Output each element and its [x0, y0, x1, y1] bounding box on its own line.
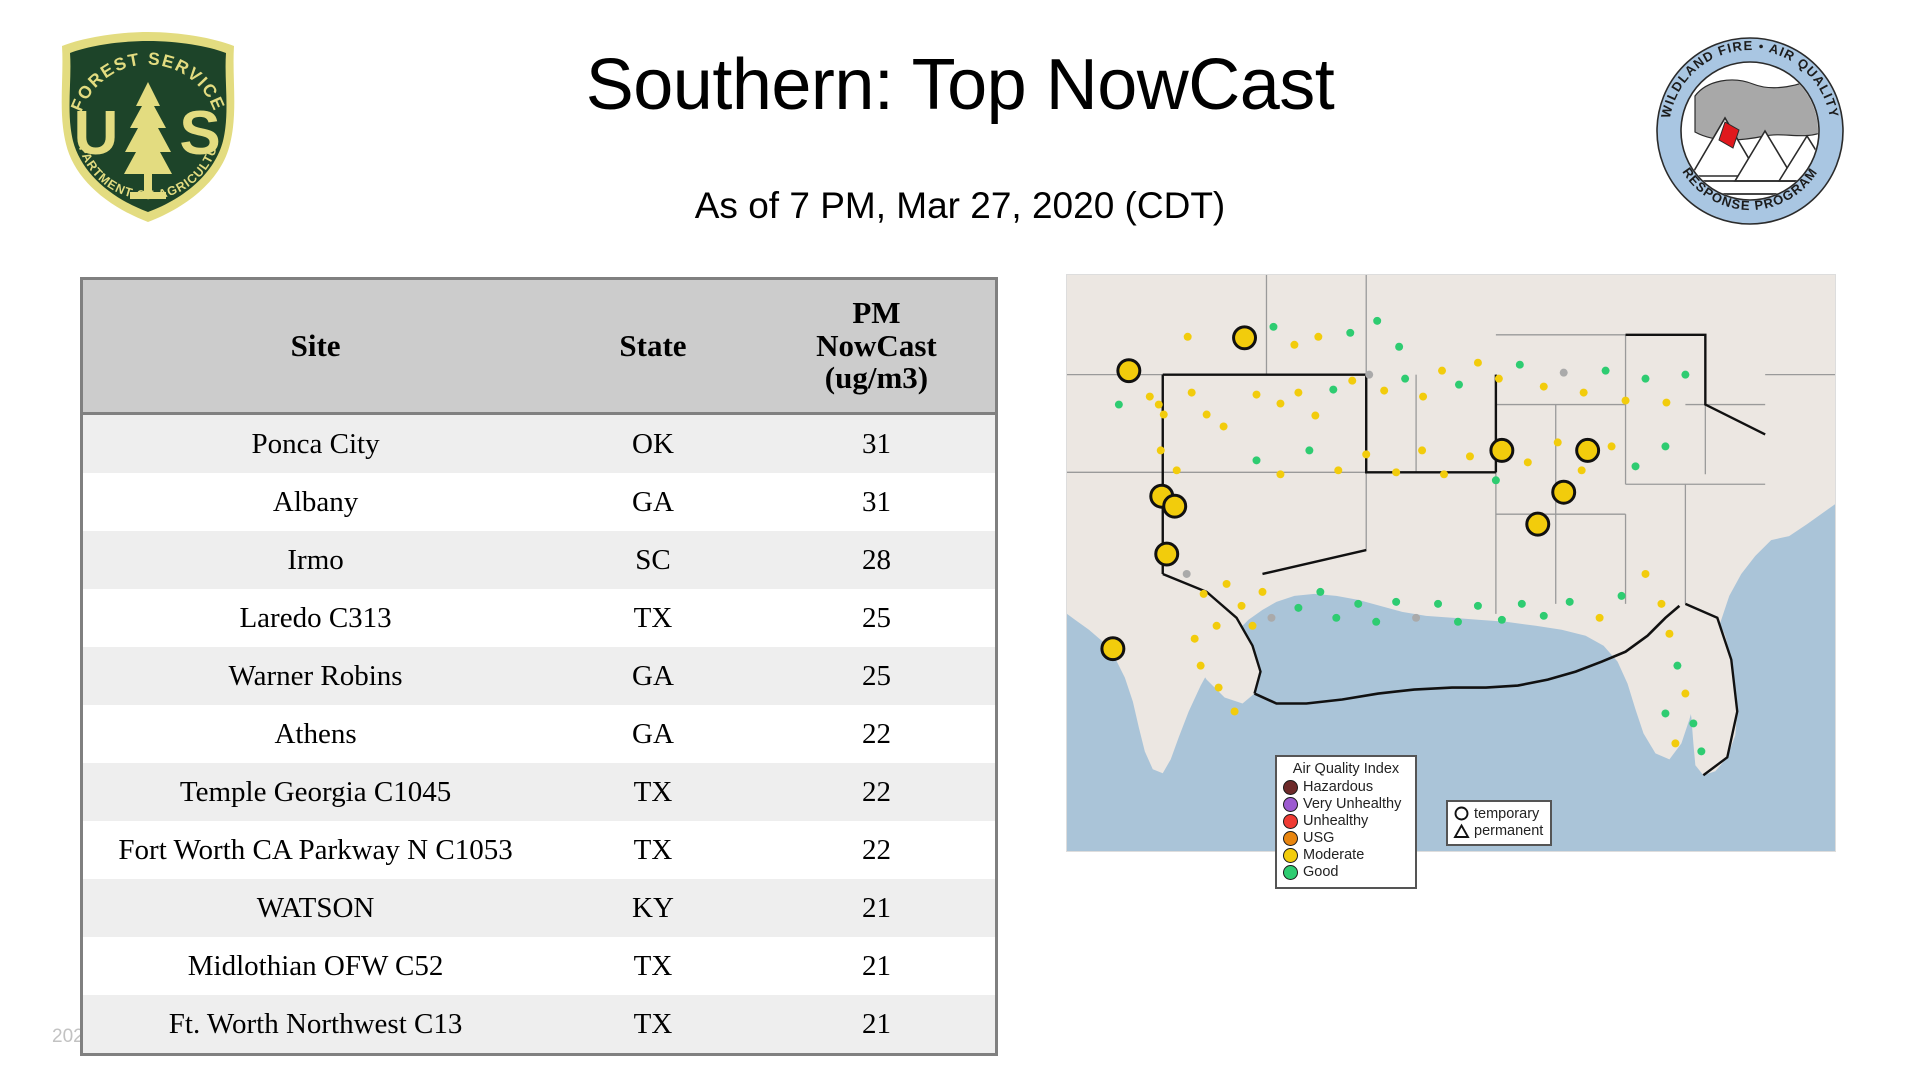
monitor-dot[interactable] [1540, 612, 1548, 620]
monitor-dot[interactable] [1681, 371, 1689, 379]
monitor-dot[interactable] [1314, 333, 1322, 341]
monitor-dot[interactable] [1253, 391, 1261, 399]
monitor-dot[interactable] [1238, 602, 1246, 610]
pm-nowcast-cell: 25 [758, 589, 995, 647]
state-cell: TX [548, 589, 758, 647]
top-site-monitor-dot[interactable] [1491, 439, 1513, 461]
monitor-dot[interactable] [1560, 369, 1568, 377]
top-site-monitor-dot[interactable] [1102, 638, 1124, 660]
monitor-dot[interactable] [1596, 614, 1604, 622]
nowcast-table: Site State PMNowCast(ug/m3) Ponca CityOK… [83, 280, 995, 1053]
monitor-dot[interactable] [1197, 662, 1205, 670]
monitor-dot[interactable] [1372, 618, 1380, 626]
table-row: WATSONKY21 [83, 879, 995, 937]
monitor-dot[interactable] [1554, 438, 1562, 446]
site-cell: Laredo C313 [83, 589, 548, 647]
monitor-dot[interactable] [1642, 375, 1650, 383]
aqi-legend-item: Moderate [1283, 847, 1409, 864]
state-cell: SC [548, 531, 758, 589]
monitor-dot[interactable] [1329, 386, 1337, 394]
monitor-dot[interactable] [1412, 614, 1420, 622]
table-row: Midlothian OFW C52TX21 [83, 937, 995, 995]
monitor-dot[interactable] [1516, 361, 1524, 369]
monitor-dot[interactable] [1392, 468, 1400, 476]
monitor-dot[interactable] [1215, 684, 1223, 692]
monitor-dot[interactable] [1661, 442, 1669, 450]
aqi-swatch-icon [1283, 865, 1298, 880]
monitor-dot[interactable] [1373, 317, 1381, 325]
aqi-legend: Air Quality Index HazardousVery Unhealth… [1275, 755, 1417, 889]
table-row: AlbanyGA31 [83, 473, 995, 531]
aqi-swatch-icon [1283, 848, 1298, 863]
site-cell: Warner Robins [83, 647, 548, 705]
monitor-dot[interactable] [1689, 719, 1697, 727]
air-quality-map[interactable] [1066, 274, 1836, 852]
site-cell: Temple Georgia C1045 [83, 763, 548, 821]
aqi-swatch-icon [1283, 797, 1298, 812]
aqi-legend-title: Air Quality Index [1283, 761, 1409, 777]
pm-nowcast-cell: 21 [758, 995, 995, 1053]
monitor-dot[interactable] [1578, 466, 1586, 474]
monitor-dot[interactable] [1269, 323, 1277, 331]
monitor-dot[interactable] [1276, 400, 1284, 408]
site-cell: Ft. Worth Northwest C13 [83, 995, 548, 1053]
monitor-dot[interactable] [1474, 359, 1482, 367]
monitor-dot[interactable] [1354, 600, 1362, 608]
table-row: Temple Georgia C1045TX22 [83, 763, 995, 821]
monitor-dot[interactable] [1395, 343, 1403, 351]
nowcast-table-container: Site State PMNowCast(ug/m3) Ponca CityOK… [80, 277, 998, 1056]
monitor-dot[interactable] [1365, 371, 1373, 379]
monitor-dot[interactable] [1671, 739, 1679, 747]
monitor-dot[interactable] [1418, 446, 1426, 454]
top-site-monitor-dot[interactable] [1234, 327, 1256, 349]
table-body: Ponca CityOK31AlbanyGA31IrmoSC28Laredo C… [83, 414, 995, 1054]
monitor-dot[interactable] [1697, 747, 1705, 755]
top-site-monitor-dot[interactable] [1118, 360, 1140, 382]
monitor-dot[interactable] [1184, 333, 1192, 341]
column-header-site: Site [83, 280, 548, 414]
state-cell: TX [548, 995, 758, 1053]
monitor-dot[interactable] [1434, 600, 1442, 608]
pm-nowcast-cell: 21 [758, 937, 995, 995]
monitor-dot[interactable] [1188, 389, 1196, 397]
column-header-state: State [548, 280, 758, 414]
aqi-legend-label: Very Unhealthy [1303, 797, 1401, 812]
site-cell: Athens [83, 705, 548, 763]
aqi-swatch-icon [1283, 780, 1298, 795]
state-cell: OK [548, 414, 758, 474]
table-row: Laredo C313TX25 [83, 589, 995, 647]
monitor-dot[interactable] [1183, 570, 1191, 578]
pm-nowcast-cell: 31 [758, 473, 995, 531]
top-site-monitor-dot[interactable] [1577, 439, 1599, 461]
monitor-dot[interactable] [1474, 602, 1482, 610]
aqi-legend-label: Hazardous [1303, 780, 1373, 795]
monitor-dot[interactable] [1580, 389, 1588, 397]
state-cell: TX [548, 937, 758, 995]
table-header-row: Site State PMNowCast(ug/m3) [83, 280, 995, 414]
table-row: Ft. Worth Northwest C13TX21 [83, 995, 995, 1053]
pm-nowcast-cell: 28 [758, 531, 995, 589]
site-type-legend: temporarypermanent [1446, 800, 1552, 846]
monitor-dot[interactable] [1566, 598, 1574, 606]
monitor-dot[interactable] [1438, 367, 1446, 375]
monitor-dot[interactable] [1602, 367, 1610, 375]
page-title: Southern: Top NowCast [0, 48, 1920, 124]
monitor-dot[interactable] [1362, 450, 1370, 458]
monitor-dot[interactable] [1294, 389, 1302, 397]
top-site-monitor-dot[interactable] [1527, 513, 1549, 535]
monitor-dot[interactable] [1642, 570, 1650, 578]
pm-nowcast-cell: 31 [758, 414, 995, 474]
site-cell: Irmo [83, 531, 548, 589]
pm-nowcast-cell: 22 [758, 705, 995, 763]
monitor-dot[interactable] [1311, 412, 1319, 420]
monitor-dot[interactable] [1203, 411, 1211, 419]
monitor-dot[interactable] [1518, 600, 1526, 608]
monitor-dot[interactable] [1316, 588, 1324, 596]
site-type-label: permanent [1474, 823, 1543, 840]
monitor-dot[interactable] [1524, 458, 1532, 466]
table-header: Site State PMNowCast(ug/m3) [83, 280, 995, 414]
monitor-dot[interactable] [1657, 600, 1665, 608]
monitor-dot[interactable] [1348, 377, 1356, 385]
monitor-dot[interactable] [1155, 401, 1163, 409]
aqi-legend-item: Very Unhealthy [1283, 796, 1409, 813]
monitor-dot[interactable] [1681, 690, 1689, 698]
monitor-dot[interactable] [1220, 422, 1228, 430]
monitor-dot[interactable] [1332, 614, 1340, 622]
pm-nowcast-cell: 21 [758, 879, 995, 937]
monitor-dot[interactable] [1115, 401, 1123, 409]
monitor-dot[interactable] [1392, 598, 1400, 606]
monitor-dot[interactable] [1223, 580, 1231, 588]
monitor-dot[interactable] [1608, 442, 1616, 450]
monitor-dot[interactable] [1200, 590, 1208, 598]
state-cell: KY [548, 879, 758, 937]
aqi-legend-item: Hazardous [1283, 779, 1409, 796]
table-row: Ponca CityOK31 [83, 414, 995, 474]
aqi-legend-item: USG [1283, 830, 1409, 847]
table-row: AthensGA22 [83, 705, 995, 763]
monitor-dot[interactable] [1495, 375, 1503, 383]
pm-nowcast-cell: 22 [758, 821, 995, 879]
temporary-circle-icon [1453, 805, 1470, 822]
monitor-dot[interactable] [1665, 630, 1673, 638]
monitor-dot[interactable] [1632, 462, 1640, 470]
monitor-dot[interactable] [1622, 397, 1630, 405]
pm-nowcast-cell: 22 [758, 763, 995, 821]
monitor-dot[interactable] [1440, 470, 1448, 478]
column-header-pm-nowcast: PMNowCast(ug/m3) [758, 280, 995, 414]
monitor-dot[interactable] [1213, 622, 1221, 630]
monitor-dot[interactable] [1276, 470, 1284, 478]
aqi-legend-label: USG [1303, 831, 1334, 846]
monitor-dot[interactable] [1346, 329, 1354, 337]
table-row: Warner RobinsGA25 [83, 647, 995, 705]
aqi-legend-item: Good [1283, 864, 1409, 881]
monitor-dot[interactable] [1290, 341, 1298, 349]
monitor-dot[interactable] [1160, 411, 1168, 419]
monitor-dot[interactable] [1191, 635, 1199, 643]
site-cell: Albany [83, 473, 548, 531]
monitor-dot[interactable] [1380, 387, 1388, 395]
pm-nowcast-cell: 25 [758, 647, 995, 705]
monitor-dot[interactable] [1305, 446, 1313, 454]
monitor-dot[interactable] [1249, 622, 1257, 630]
permanent-triangle-icon [1453, 823, 1470, 840]
monitor-dot[interactable] [1419, 393, 1427, 401]
monitor-dot[interactable] [1662, 399, 1670, 407]
monitor-dot[interactable] [1498, 616, 1506, 624]
state-cell: GA [548, 647, 758, 705]
monitor-dot[interactable] [1253, 456, 1261, 464]
monitor-dot[interactable] [1454, 618, 1462, 626]
state-cell: TX [548, 763, 758, 821]
top-site-monitor-dot[interactable] [1156, 543, 1178, 565]
monitor-dot[interactable] [1618, 592, 1626, 600]
monitor-dot[interactable] [1231, 707, 1239, 715]
table-row: IrmoSC28 [83, 531, 995, 589]
site-cell: WATSON [83, 879, 548, 937]
monitor-dot[interactable] [1267, 614, 1275, 622]
aqi-legend-label: Unhealthy [1303, 814, 1368, 829]
monitor-dot[interactable] [1466, 452, 1474, 460]
state-cell: GA [548, 473, 758, 531]
state-cell: TX [548, 821, 758, 879]
monitor-dot[interactable] [1157, 446, 1165, 454]
aqi-swatch-icon [1283, 814, 1298, 829]
monitor-dot[interactable] [1146, 393, 1154, 401]
monitor-dot[interactable] [1294, 604, 1302, 612]
site-cell: Ponca City [83, 414, 548, 474]
site-cell: Midlothian OFW C52 [83, 937, 548, 995]
aqi-legend-label: Good [1303, 865, 1338, 880]
site-type-label: temporary [1474, 806, 1543, 823]
aqi-swatch-icon [1283, 831, 1298, 846]
monitor-dot[interactable] [1259, 588, 1267, 596]
monitor-dot[interactable] [1455, 381, 1463, 389]
monitor-dot[interactable] [1334, 466, 1342, 474]
monitor-dot[interactable] [1492, 476, 1500, 484]
table-row: Fort Worth CA Parkway N C1053TX22 [83, 821, 995, 879]
monitor-dot[interactable] [1173, 466, 1181, 474]
state-cell: GA [548, 705, 758, 763]
monitor-dot[interactable] [1401, 375, 1409, 383]
monitor-dot[interactable] [1540, 383, 1548, 391]
top-site-monitor-dot[interactable] [1553, 481, 1575, 503]
aqi-legend-item: Unhealthy [1283, 813, 1409, 830]
top-site-monitor-dot[interactable] [1164, 495, 1186, 517]
monitor-dot[interactable] [1673, 662, 1681, 670]
aqi-legend-label: Moderate [1303, 848, 1364, 863]
site-cell: Fort Worth CA Parkway N C1053 [83, 821, 548, 879]
monitor-dot[interactable] [1661, 709, 1669, 717]
page-subtitle: As of 7 PM, Mar 27, 2020 (CDT) [0, 185, 1920, 227]
